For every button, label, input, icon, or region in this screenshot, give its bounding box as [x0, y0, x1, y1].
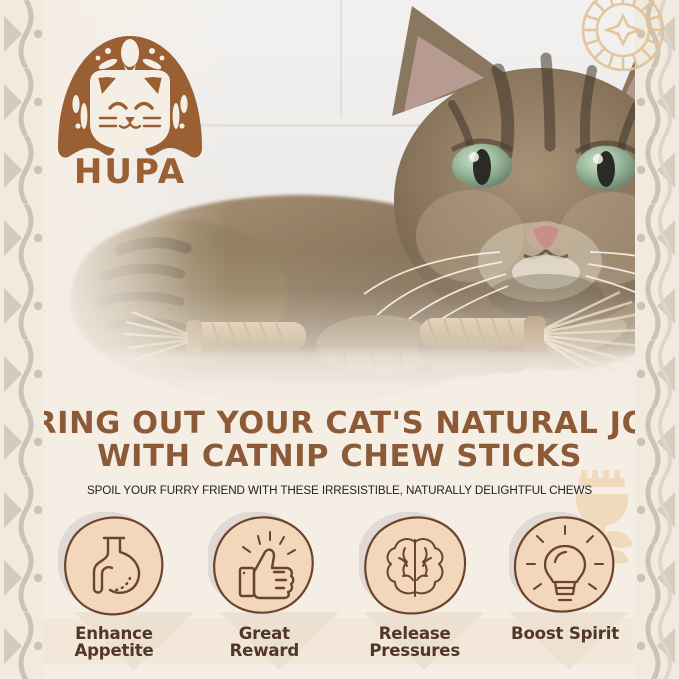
feature-label: Boost Spirit: [511, 625, 619, 642]
logo-wordmark: HUPA: [74, 152, 186, 190]
brand-logo: HUPA: [44, 20, 216, 190]
feature-blob: [208, 512, 320, 618]
feature-blob: [359, 512, 471, 618]
feature-label: Enhance Appetite: [74, 625, 153, 659]
feature-blob: [509, 512, 621, 618]
headline-line-2: WITH CATNIP CHEW STICKS: [0, 441, 679, 474]
feature-item[interactable]: Boost Spirit: [495, 512, 635, 642]
feature-row: Enhance Appetite: [44, 512, 635, 672]
feature-blob: [58, 512, 170, 618]
headline-line-1: BRING OUT YOUR CAT'S NATURAL JOY: [9, 406, 669, 441]
feature-item[interactable]: Great Reward: [194, 512, 334, 659]
feature-label: Release Pressures: [369, 625, 460, 659]
feature-item[interactable]: Release Pressures: [345, 512, 485, 659]
product-marketing-poster: HUPA: [0, 0, 679, 679]
feature-item[interactable]: Enhance Appetite: [44, 512, 184, 659]
headline: BRING OUT YOUR CAT'S NATURAL JOY WITH CA…: [0, 408, 679, 474]
headline-block: BRING OUT YOUR CAT'S NATURAL JOY WITH CA…: [0, 408, 679, 497]
subtitle: SPOIL YOUR FURRY FRIEND WITH THESE IRRES…: [20, 483, 658, 497]
feature-label: Great Reward: [230, 625, 299, 659]
